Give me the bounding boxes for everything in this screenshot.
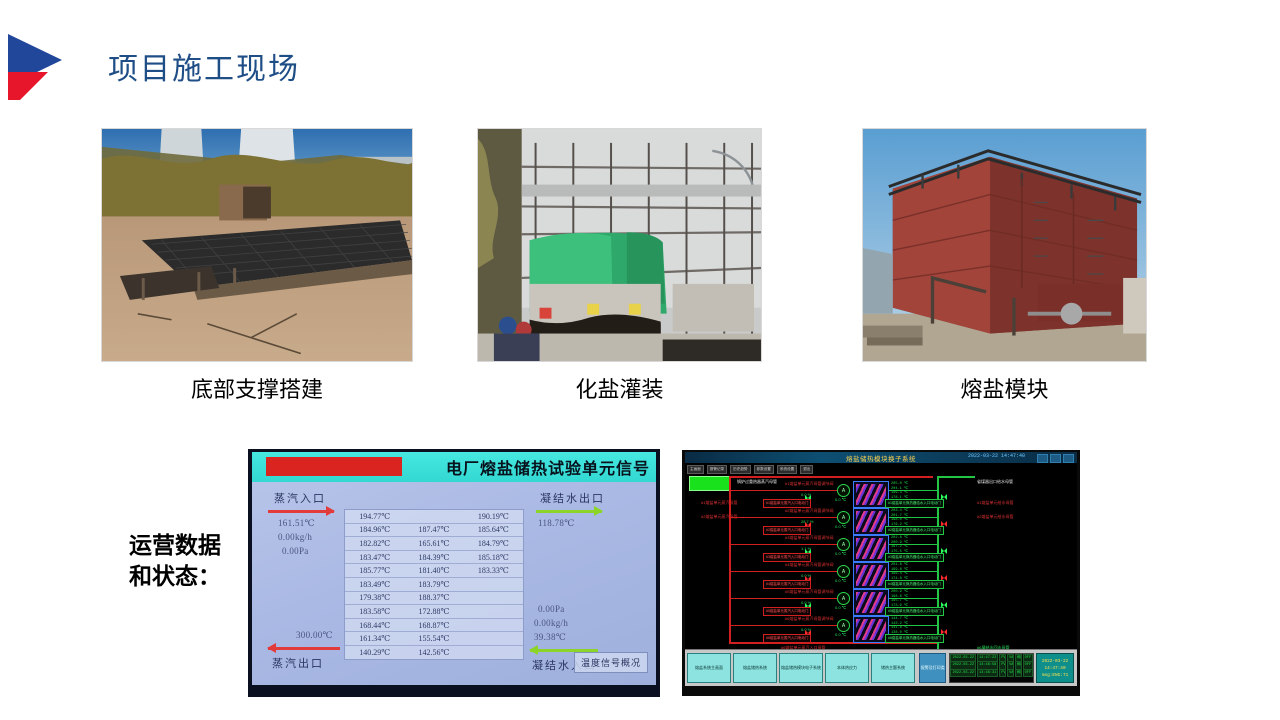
temperature-row: 183.47℃184.39℃185.18℃ — [345, 551, 523, 565]
temperature-cell: 183.58℃ — [345, 607, 404, 616]
heat-exchanger-coil — [856, 484, 886, 505]
temperature-cell: 184.79℃ — [464, 539, 523, 548]
maximize-icon[interactable] — [1050, 454, 1061, 463]
scada-screen: 熔盐储热模块换子系统 2022-03-22 14:47:40 主画面报警记录历史… — [685, 452, 1077, 686]
temperature-row: 182.82℃165.61℃184.79℃ — [345, 537, 523, 551]
module-temperature-readout: 200.9 ℃ 198.6 ℃ 195.7 ℃ 173.9 ℃ — [891, 590, 908, 608]
module-outlet-motor-valve[interactable]: #2熔盐单元换热器给水入口电动门 — [885, 526, 944, 535]
module-steam-branch-pipe — [729, 625, 837, 626]
condensate-inlet-pressure: 0.00Pa — [538, 604, 565, 614]
temperature-cell: 179.38℃ — [345, 593, 404, 602]
module-temperature-readout: 205.0 ℃ 204.1 ℃ 199.3 ℃ 178.1 ℃ — [891, 482, 908, 500]
module-gauge-icon: A — [837, 484, 850, 497]
heat-exchanger-coil — [856, 538, 886, 559]
temperature-cell: 140.29℃ — [345, 648, 404, 657]
module-heat-exchanger — [853, 562, 889, 589]
water-header-pipe — [937, 476, 975, 478]
module-gauge-icon: A — [837, 538, 850, 551]
temperature-cell: 183.49℃ — [345, 580, 404, 589]
log-cell: OFF — [1023, 669, 1033, 678]
menu-item[interactable]: 系统设置 — [777, 465, 797, 474]
log-cell: 14:46:31 — [977, 669, 998, 678]
module-gauge-temp: 0.0 ℃ — [835, 632, 846, 637]
temperature-cell: 188.37℃ — [404, 593, 463, 602]
temperature-row: 168.44℃168.87℃ — [345, 619, 523, 633]
module-inlet-motor-valve[interactable]: #3熔盐单元蒸汽入口电动门 — [763, 553, 811, 562]
heat-exchanger-coil — [856, 565, 886, 586]
module-heat-exchanger — [853, 481, 889, 508]
temperature-cell: 185.18℃ — [464, 553, 523, 562]
module-steam-branch-pipe — [729, 544, 837, 545]
temperature-cell: 184.39℃ — [404, 553, 463, 562]
temperature-cell: 183.33℃ — [464, 566, 523, 575]
module-outlet-motor-valve[interactable]: #4熔盐单元换热器给水入口电动门 — [885, 580, 944, 589]
module-gauge-temp: 0.0 ℃ — [835, 497, 846, 502]
window-controls[interactable] — [1037, 454, 1074, 463]
status-msg: msg:ENG:71 — [1042, 672, 1068, 679]
scada-tab[interactable]: 储热主题系统 — [871, 653, 915, 683]
scada-status-panel: 2022-03-22 14:47:40 msg:ENG:71 — [1036, 653, 1074, 683]
module-valve-label: #2熔盐单元蒸汽母管调节阀 — [785, 508, 833, 514]
right-label-1: #1熔盐单元给水母管 — [977, 500, 1013, 506]
temperature-cell: 182.82℃ — [345, 539, 404, 548]
temperature-row: 183.58℃172.88℃ — [345, 605, 523, 619]
steam-outlet-temp: 300.00℃ — [296, 630, 333, 641]
module-gauge-icon: A — [837, 511, 850, 524]
page-title: 项目施工现场 — [108, 44, 300, 88]
module-water-branch-pipe — [881, 517, 939, 518]
menu-item[interactable]: 历史趋势 — [730, 465, 750, 474]
menu-item[interactable]: 退出 — [800, 465, 813, 474]
module-gauge-temp: 0.0 ℃ — [835, 578, 846, 583]
module-water-branch-pipe — [881, 544, 939, 545]
module-gauge-icon: A — [837, 619, 850, 632]
module-water-branch-pipe — [881, 571, 939, 572]
steam-inlet-flow: 0.00kg/h — [278, 532, 312, 542]
temperature-cell: 183.79℃ — [404, 580, 463, 589]
temperature-row: 185.77℃181.40℃183.33℃ — [345, 564, 523, 578]
close-icon[interactable] — [1063, 454, 1074, 463]
module-gauge-icon: A — [837, 592, 850, 605]
module-heat-exchanger — [853, 535, 889, 562]
log-row[interactable]: 2022-03-2214:46:31PV 3号 PV 0VALUE=CLOSE阀… — [950, 669, 1033, 677]
module-valve-label: #4熔盐单元蒸汽母管调节阀 — [785, 562, 833, 568]
module-inlet-motor-valve[interactable]: #6熔盐单元蒸汽入口电动门 — [763, 634, 811, 643]
alarm-log-list[interactable]: 2022-03-2214:47:22PV 2号 PV 0VALUE=CLOSE阀… — [949, 653, 1034, 683]
heat-exchanger-coil — [856, 511, 886, 532]
module-steam-branch-pipe — [729, 598, 837, 599]
log-cell: VALUE=CLOSE — [1007, 669, 1014, 678]
module-outlet-motor-valve[interactable]: #3熔盐单元换热器给水入口电动门 — [885, 553, 944, 562]
steam-inlet-label: 蒸汽入口 — [274, 490, 326, 506]
hmi-screen: 电厂熔盐储热试验单元信号 蒸汽入口 161.51℃ 0.00kg/h 0.00P… — [252, 452, 656, 685]
temperature-cell: 172.88℃ — [404, 607, 463, 616]
temperature-row: 179.38℃188.37℃ — [345, 592, 523, 606]
temperature-cell: 142.56℃ — [404, 648, 463, 657]
photo-caption-2: 化盐灌装 — [477, 372, 762, 404]
photo-foundation — [101, 128, 413, 362]
steam-header-pipe — [729, 476, 933, 478]
temperature-cell: 181.40℃ — [404, 566, 463, 575]
steam-inlet-arrow — [268, 509, 334, 513]
module-steam-branch-pipe — [729, 571, 837, 572]
temperature-row: 161.34℃155.54℃ — [345, 632, 523, 646]
temperature-cell: 185.64℃ — [464, 525, 523, 534]
right-header-label: 省煤器出口给水母管 — [977, 479, 1013, 485]
module-water-branch-pipe — [881, 598, 939, 599]
temperature-table: 194.77℃190.19℃184.96℃187.47℃185.64℃182.8… — [344, 509, 524, 660]
steam-outlet-label: 蒸汽出口 — [272, 655, 324, 671]
status-date: 2022-03-22 — [1042, 658, 1068, 665]
menu-item[interactable]: 主画面 — [687, 465, 704, 474]
condensate-inlet-flow: 0.00kg/h — [534, 618, 568, 628]
scada-screenshot: 熔盐储热模块换子系统 2022-03-22 14:47:40 主画面报警记录历史… — [682, 450, 1080, 696]
module-water-branch-pipe — [881, 490, 939, 491]
ops-label-line1: 运营数据 — [100, 530, 250, 561]
module-temperature-readout: 201.6 ℃ 199.8 ℃ 196.4 ℃ 174.8 ℃ — [891, 563, 908, 581]
log-cell: PV 3号 PV 0 — [999, 669, 1006, 678]
temperature-row: 194.77℃190.19℃ — [345, 510, 523, 524]
module-gauge-temp: 0.0 ℃ — [835, 605, 846, 610]
temperature-row: 184.96℃187.47℃185.64℃ — [345, 524, 523, 538]
module-gauge-icon: A — [837, 565, 850, 578]
temperature-cell: 165.61℃ — [404, 539, 463, 548]
ops-label-line2: 和状态： — [100, 561, 250, 592]
right-label-2: #2熔盐单元给水母管 — [977, 514, 1013, 520]
left-header-label: 锅炉过重热器蒸汽母管 — [737, 479, 777, 485]
temperature-cell: 161.34℃ — [345, 634, 404, 643]
scada-title-text: 熔盐储热模块换子系统 — [846, 453, 916, 463]
photo-salt-module — [862, 128, 1147, 362]
steam-inlet-temp: 161.51℃ — [278, 518, 315, 529]
module-inlet-motor-valve[interactable]: #1熔盐单元蒸汽入口电动门 — [763, 499, 811, 508]
module-valve-label: #3熔盐单元蒸汽母管调节阀 — [785, 535, 833, 541]
temperature-cell: 184.96℃ — [345, 525, 404, 534]
menu-item[interactable]: 报警记录 — [707, 465, 727, 474]
condensate-outlet-label: 凝结水出口 — [540, 490, 605, 506]
module-temperature-readout: 202.8 ℃ 200.9 ℃ 197.2 ℃ 175.5 ℃ — [891, 536, 908, 554]
temperature-overview-button[interactable]: 温度信号概况 — [574, 652, 648, 673]
scada-tab[interactable]: 本体热应力 — [825, 653, 869, 683]
arrow-logo — [4, 28, 66, 104]
condensate-inlet-temp: 39.38℃ — [534, 632, 566, 643]
alarm-print-tab[interactable]: 报警及打印类 — [919, 653, 946, 683]
ops-data-label: 运营数据 和状态： — [100, 530, 250, 592]
scada-bottom-toolbar: 熔盐系统主画面熔盐储热系统熔盐储热模块电子系统本体热应力储热主题系统 报警及打印… — [685, 649, 1077, 686]
steam-trunk-pipe — [729, 476, 731, 644]
module-gauge-temp: 0.0 ℃ — [835, 524, 846, 529]
module-heat-exchanger — [853, 589, 889, 616]
temperature-cell: 155.54℃ — [404, 634, 463, 643]
module-inlet-motor-valve[interactable]: #4熔盐单元蒸汽入口电动门 — [763, 580, 811, 589]
steam-inlet-pressure: 0.00Pa — [282, 546, 309, 556]
hmi-titlebar: 电厂熔盐储热试验单元信号 — [252, 452, 656, 482]
module-outlet-motor-valve[interactable]: #6熔盐单元换热器给水入口电动门 — [885, 634, 944, 643]
condensate-outlet-arrow — [536, 509, 602, 513]
module-heat-exchanger — [853, 508, 889, 535]
scada-tab-group[interactable]: 熔盐系统主画面熔盐储热系统熔盐储热模块电子系统本体热应力储热主题系统 — [685, 650, 917, 686]
module-water-branch-pipe — [881, 625, 939, 626]
temperature-cell: 194.77℃ — [345, 512, 404, 521]
menu-item[interactable]: 参数设置 — [754, 465, 774, 474]
photo-salt-filling — [477, 128, 762, 362]
module-steam-branch-pipe — [729, 517, 837, 518]
temperature-row: 183.49℃183.79℃ — [345, 578, 523, 592]
module-temperature-readout: 144.7 ℃ 143.2 ℃ 141.8 ℃ 138.0 ℃ — [891, 617, 908, 635]
module-inlet-motor-valve[interactable]: #2熔盐单元蒸汽入口电动门 — [763, 526, 811, 535]
temperature-cell: 168.44℃ — [345, 621, 404, 630]
heat-exchanger-coil — [856, 592, 886, 613]
scada-tab[interactable]: 熔盐储热模块电子系统 — [779, 653, 823, 683]
module-valve-label: #1熔盐单元蒸汽母管调节阀 — [785, 481, 833, 487]
temperature-cell: 183.47℃ — [345, 553, 404, 562]
heat-exchanger-coil — [856, 619, 886, 640]
scada-tab[interactable]: 熔盐储热系统 — [733, 653, 777, 683]
scada-menubar[interactable]: 主画面报警记录历史趋势参数设置系统设置退出 — [687, 465, 813, 473]
minimize-icon[interactable] — [1037, 454, 1048, 463]
module-inlet-motor-valve[interactable]: #5熔盐单元蒸汽入口电动门 — [763, 607, 811, 616]
photo-caption-3: 熔盐模块 — [862, 372, 1147, 404]
hmi-screenshot: 电厂熔盐储热试验单元信号 蒸汽入口 161.51℃ 0.00kg/h 0.00P… — [248, 449, 660, 697]
log-cell: 2022-03-22 — [950, 669, 976, 678]
temperature-cell: 185.77℃ — [345, 566, 404, 575]
module-outlet-motor-valve[interactable]: #5熔盐单元换热器给水入口电动门 — [885, 607, 944, 616]
module-temperature-readout: 203.4 ℃ 201.7 ℃ 198.0 ℃ 176.2 ℃ — [891, 509, 908, 527]
condensate-outlet-temp: 118.78℃ — [538, 518, 575, 529]
module-valve-label: #6熔盐单元蒸汽母管调节阀 — [785, 616, 833, 622]
temperature-cell: 187.47℃ — [404, 525, 463, 534]
scada-tab[interactable]: 熔盐系统主画面 — [687, 653, 731, 683]
temperature-cell: 168.87℃ — [404, 621, 463, 630]
redaction-bar — [266, 457, 402, 476]
status-indicator-green — [689, 476, 731, 491]
module-steam-branch-pipe — [729, 490, 837, 491]
steam-outlet-arrow — [268, 646, 340, 650]
scada-clock: 2022-03-22 14:47:40 — [968, 453, 1025, 459]
status-time: 14:47:40 — [1045, 665, 1066, 672]
temperature-row: 140.29℃142.56℃ — [345, 646, 523, 659]
temperature-cell: 190.19℃ — [464, 512, 523, 521]
module-outlet-motor-valve[interactable]: #1熔盐单元换热器给水入口电动门 — [885, 499, 944, 508]
module-heat-exchanger — [853, 616, 889, 643]
module-valve-label: #5熔盐单元蒸汽母管调节阀 — [785, 589, 833, 595]
hmi-title: 电厂熔盐储热试验单元信号 — [446, 455, 650, 479]
photo-caption-1: 底部支撑搭建 — [101, 372, 413, 404]
log-cell: 阀门关闭指令 — [1015, 669, 1022, 678]
module-gauge-temp: 0.0 ℃ — [835, 551, 846, 556]
left-label-1: #1熔盐单元蒸汽母管 — [701, 500, 737, 506]
